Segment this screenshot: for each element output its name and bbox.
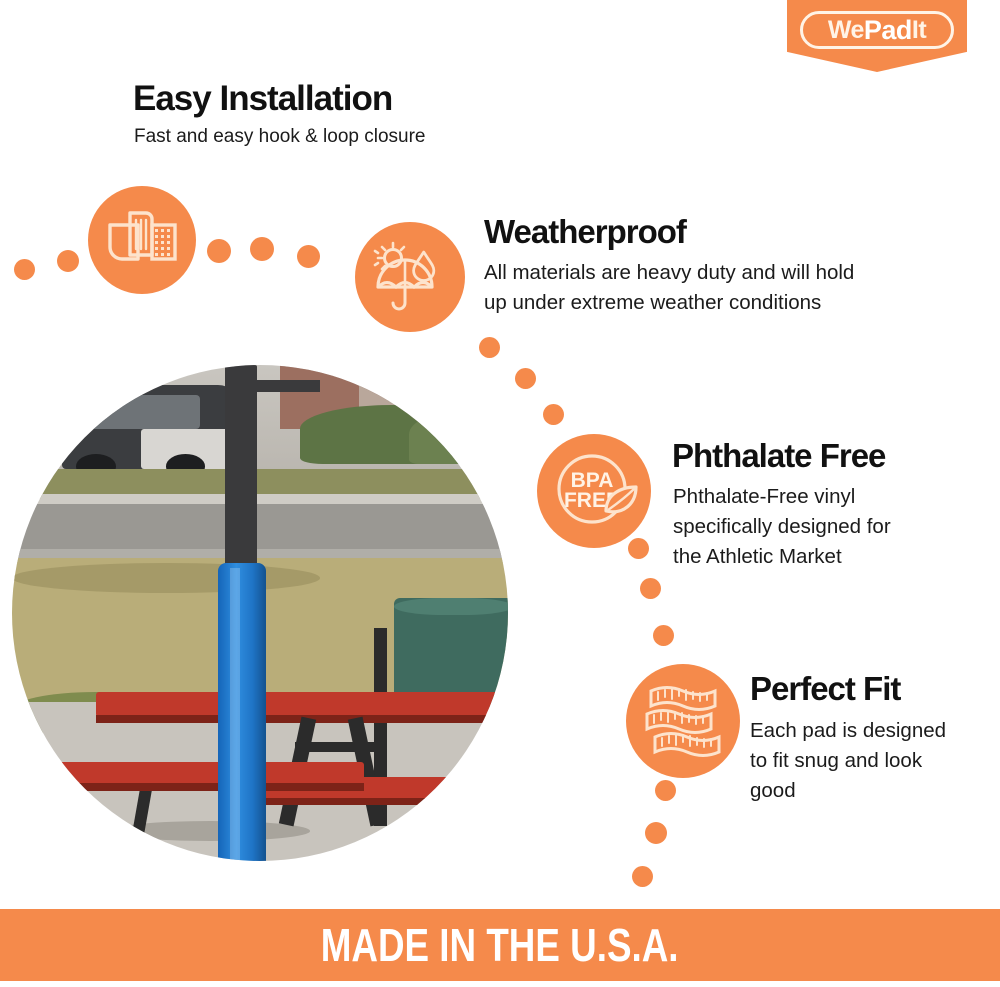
- photo-trash-can-lid: [394, 598, 508, 615]
- sun-umbrella-raindrop-icon: [371, 241, 449, 313]
- brand-logo-text-it: It: [912, 18, 926, 43]
- photo-hedge-secondary: [409, 410, 508, 465]
- photo-pole: [225, 365, 257, 588]
- feature-description-line: the Athletic Market: [673, 542, 891, 572]
- feature-title-phthalate-free: Phthalate Free: [672, 437, 885, 475]
- feature-icon-phthalate-free: BPA FREE: [537, 434, 651, 548]
- feature-icon-weatherproof: [355, 222, 465, 332]
- trail-dot: [640, 578, 661, 599]
- feature-description-weatherproof: All materials are heavy duty and will ho…: [484, 258, 854, 318]
- feature-description-line: specifically designed for: [673, 512, 891, 542]
- bpa-free-leaf-icon: BPA FREE: [548, 445, 640, 537]
- made-in-usa-banner: MADE IN THE U.S.A.: [0, 909, 1000, 981]
- feature-description-line: up under extreme weather conditions: [484, 288, 854, 318]
- trail-dot: [250, 237, 274, 261]
- feature-icon-perfect-fit: [626, 664, 740, 778]
- feature-description-line: to fit snug and look: [750, 746, 946, 776]
- trail-dot: [632, 866, 653, 887]
- brand-logo-text-we: We: [828, 18, 864, 43]
- photo-pole-pad-highlight: [230, 568, 240, 861]
- trail-dot: [653, 625, 674, 646]
- photo-blue-pole-pad: [218, 563, 266, 861]
- feature-description-line: Each pad is designed: [750, 716, 946, 746]
- trail-dot: [645, 822, 667, 844]
- brand-logo-banner: WePadIt: [787, 0, 967, 72]
- product-photo-scene: [12, 365, 508, 861]
- made-in-usa-text: MADE IN THE U.S.A.: [321, 918, 679, 972]
- feature-icon-easy-installation: [88, 186, 196, 294]
- photo-bench-near-edge: [57, 783, 365, 791]
- trail-dot: [543, 404, 564, 425]
- feature-description-phthalate-free: Phthalate-Free vinyl specifically design…: [673, 482, 891, 572]
- trail-dot: [207, 239, 231, 263]
- photo-table-brace: [295, 742, 374, 752]
- feature-description-easy-installation: Fast and easy hook & loop closure: [134, 126, 426, 148]
- feature-description-perfect-fit: Each pad is designed to fit snug and loo…: [750, 716, 946, 806]
- hook-and-loop-strap-icon: [106, 209, 178, 271]
- feature-description-line: All materials are heavy duty and will ho…: [484, 258, 854, 288]
- trail-dot: [655, 780, 676, 801]
- trail-dot: [479, 337, 500, 358]
- feature-title-easy-installation: Easy Installation: [133, 79, 392, 119]
- feature-title-perfect-fit: Perfect Fit: [750, 670, 900, 708]
- brand-logo-plate: WePadIt: [800, 11, 954, 49]
- trail-dot: [628, 538, 649, 559]
- trail-dot: [14, 259, 35, 280]
- product-photo: [12, 365, 508, 861]
- photo-lawn-patch: [12, 563, 320, 593]
- feature-description-line: Phthalate-Free vinyl: [673, 482, 891, 512]
- feature-title-weatherproof: Weatherproof: [484, 213, 686, 251]
- photo-suv-window: [91, 395, 200, 430]
- feature-description-line: good: [750, 776, 946, 806]
- trail-dot: [57, 250, 79, 272]
- brand-logo-text-pad: Pad: [864, 17, 912, 44]
- photo-picnic-table-top: [96, 692, 508, 717]
- photo-bench-near: [57, 762, 365, 784]
- trail-dot: [297, 245, 320, 268]
- photo-bench-far-edge: [245, 798, 463, 806]
- trail-dot: [515, 368, 536, 389]
- measuring-tape-icon: [641, 681, 725, 761]
